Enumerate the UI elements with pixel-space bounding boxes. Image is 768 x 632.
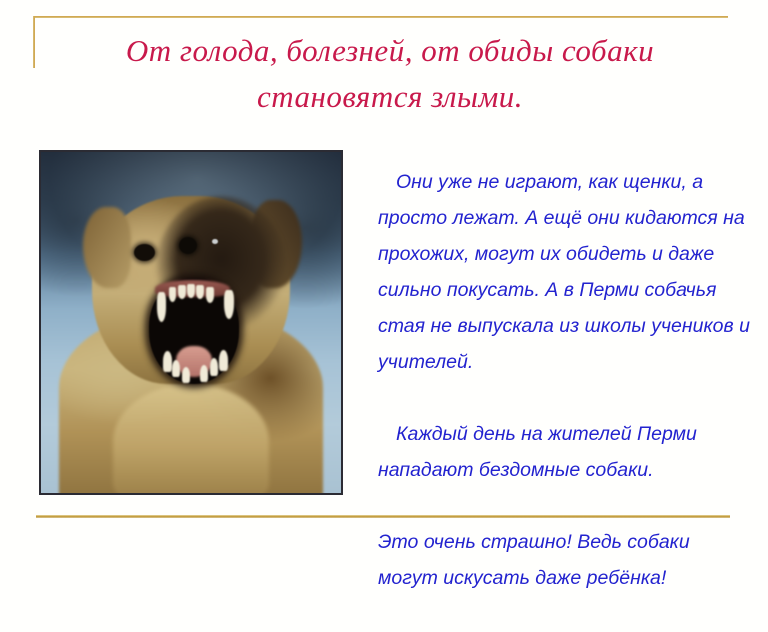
slide-canvas: От голода, болезней, от обиды собаки ста… [0, 0, 768, 576]
left-gold-rule [33, 16, 35, 68]
dog-lower-tooth [210, 358, 218, 376]
dog-lower-tooth [200, 365, 208, 381]
body-paragraph-1: Они уже не играют, как щенки, а просто л… [378, 164, 750, 380]
body-paragraph-3: Это очень страшно! Ведь собаки могут иск… [378, 524, 750, 596]
dog-lower-tooth [163, 351, 172, 371]
dog-photo-image [41, 152, 341, 493]
dog-lower-tooth [219, 350, 228, 370]
dog-lower-tooth [182, 367, 190, 383]
dog-chest-fur [113, 384, 269, 493]
dog-fang-left [157, 292, 167, 323]
top-gold-rule [33, 16, 728, 18]
dog-fang-right [224, 290, 234, 319]
slide-title: От голода, болезней, от обиды собаки ста… [60, 28, 720, 120]
dog-upper-tooth [169, 287, 177, 302]
dog-upper-tooth [187, 284, 195, 298]
dog-upper-tooth [178, 285, 186, 299]
dog-eye-left [134, 244, 155, 261]
body-text-block: Они уже не играют, как щенки, а просто л… [378, 128, 750, 632]
body-paragraph-2: Каждый день на жителей Перми нападают бе… [378, 416, 750, 488]
dog-lower-tooth [172, 360, 180, 377]
dog-photo [39, 150, 343, 495]
dog-ear-left [83, 207, 131, 289]
